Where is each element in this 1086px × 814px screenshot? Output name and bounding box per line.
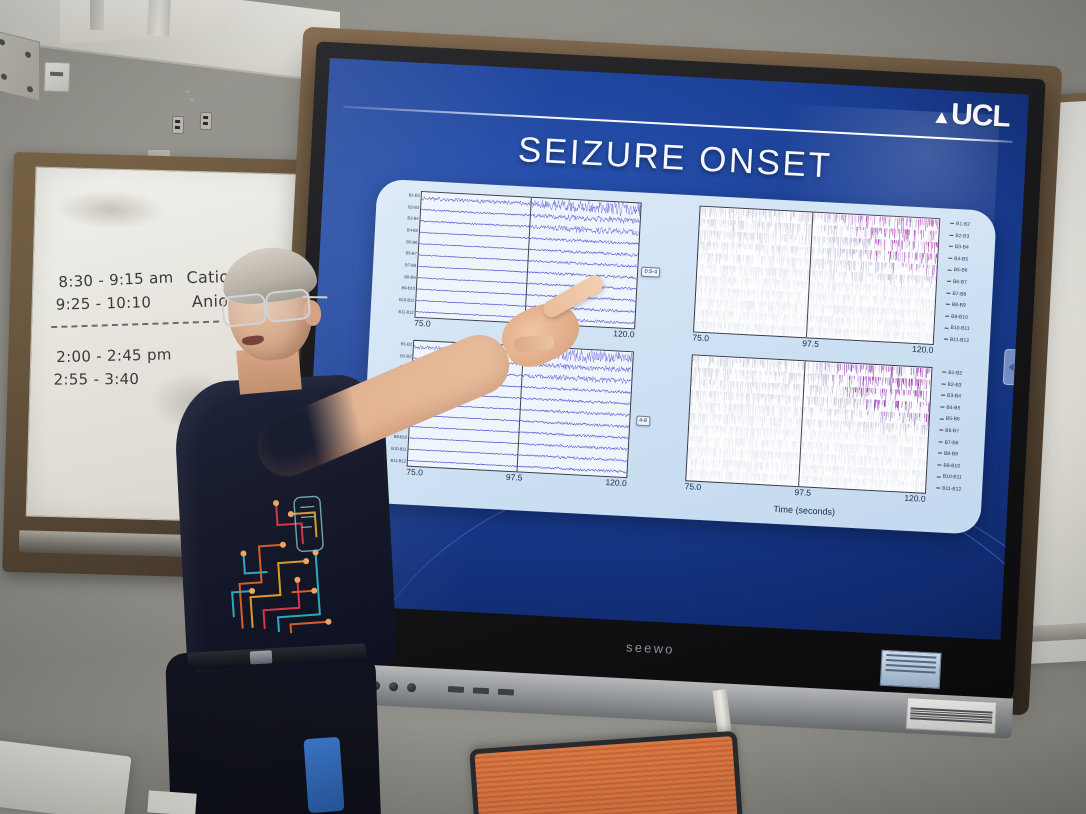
xtick-label: 120.0 [605,477,627,492]
xtick-label: 75.0 [684,481,701,496]
channel-label: B5-B6 [947,268,967,274]
display-brand-label: seewo [626,639,675,657]
wall-screw [185,90,190,93]
hdmi-port[interactable] [473,687,489,694]
channel-label: B9-B10 [945,314,968,320]
panel-spectrogram-top-right[interactable]: 75.0 97.5 120.0 [658,200,942,359]
xtick-label: 120.0 [904,493,926,508]
wall-screw [189,98,194,101]
channel-label: B7-B8 [938,440,958,446]
display-screen[interactable]: UCL SEIZURE ONSET B1-B2 B2-B3 B3-B4 B4-B… [301,58,1029,640]
channel-label: B10-B11 [944,326,969,332]
spectrogram-bottom-plot-area[interactable] [685,354,933,493]
xtick-label: 75.0 [692,332,709,347]
spectrogram-bottom-right-labels: B1-B2 B2-B3 B3-B4 B4-B5 B5-B6 B6-B7 B7-B… [929,363,981,510]
channel-label: B6-B7 [939,428,959,434]
inventory-tag [880,650,942,689]
xtick-label: 97.5 [505,472,522,487]
channel-label: B2-B3 [949,233,969,239]
channel-label: B4-B5 [948,256,968,262]
channel-label: B3-B4 [949,245,969,251]
wall-socket-right[interactable] [200,112,213,130]
tshirt-circuit-graphic [215,481,345,639]
classroom-scene: 8:30 - 9:15 am 9:25 - 10:10 2:00 - 2:45 … [0,0,1086,814]
channel-label: B1-B2 [409,193,420,198]
channel-label: B2-B3 [941,382,961,388]
channel-label: B11-B12 [944,337,969,343]
touch-usb-port[interactable] [498,689,514,696]
xtick-label: 97.5 [802,338,819,353]
device-label-sticker [906,697,998,734]
xtick-label: 120.0 [912,344,934,359]
ucl-logo: UCL [935,100,1010,131]
usb-port[interactable] [448,686,464,693]
channel-label: B7-B8 [946,291,966,297]
channel-label: B3-B4 [941,394,961,400]
channel-label: B4-B5 [940,405,960,411]
ceiling-duct [147,0,171,37]
channel-label: B1-B2 [950,222,970,228]
channel-label: B3-B4 [407,217,418,222]
paper-sheet [147,790,196,814]
channel-label: B5-B6 [940,417,960,423]
spectrogram-top-right-labels: B1-B2 B2-B3 B3-B4 B4-B5 B5-B6 B6-B7 B7-B… [937,214,989,361]
channel-label: B11-B12 [936,486,961,492]
xtick-label: 120.0 [613,328,635,343]
band-tag-top: 0.5-4 [641,266,660,277]
xtick-label: 75.0 [414,318,431,333]
ucl-triangle-icon [936,112,949,124]
channel-label: B6-B7 [947,280,967,286]
wall-plate [43,62,70,93]
chevron-left-icon [1008,363,1013,371]
channel-label: B8-B9 [946,303,966,309]
channel-label: B8-B9 [938,452,958,458]
channel-label: B1-B2 [942,371,962,377]
channel-label: B2-B3 [408,205,419,210]
ceiling-duct-secondary [90,0,104,30]
wall-socket-left[interactable] [172,116,185,134]
panel-spectrogram-bottom-right[interactable]: 75.0 97.5 120.0 Time (seconds) [650,349,934,508]
xtick-label: 97.5 [794,487,811,502]
wall-bracket [0,30,40,101]
presenter [110,230,410,814]
ucl-logo-text: UCL [950,101,1010,131]
channel-label: B9-B10 [937,463,960,469]
pocket-item [303,737,344,813]
belt-buckle [250,650,273,664]
band-tag-bottom: 4-8 [636,415,650,426]
channel-label: B10-B11 [937,475,962,481]
presenter-thumb [514,335,555,353]
spectrogram-top-plot-area[interactable] [693,206,941,345]
